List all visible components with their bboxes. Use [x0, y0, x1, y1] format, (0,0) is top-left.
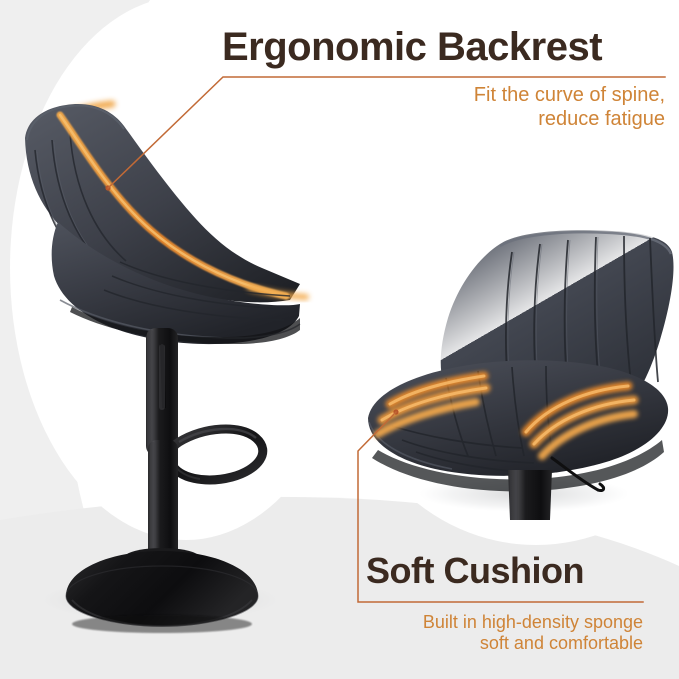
callout-heading-soft-cushion: Soft Cushion [366, 553, 584, 589]
callout-subtitle-ergonomic-backrest: Fit the curve of spine, reduce fatigue [222, 84, 665, 131]
infographic-canvas: Ergonomic Backrest Fit the curve of spin… [0, 0, 679, 679]
callout-subtitle-line-1: Fit the curve of spine, [222, 84, 665, 108]
callout-subtitle-soft-cushion: Built in high-density sponge soft and co… [357, 612, 643, 654]
callout-heading-ergonomic-backrest: Ergonomic Backrest [222, 27, 602, 67]
callout-subtitle-line-1: Built in high-density sponge [357, 612, 643, 633]
callout-subtitle-line-2: reduce fatigue [222, 108, 665, 132]
callout-subtitle-line-2: soft and comfortable [357, 633, 643, 654]
